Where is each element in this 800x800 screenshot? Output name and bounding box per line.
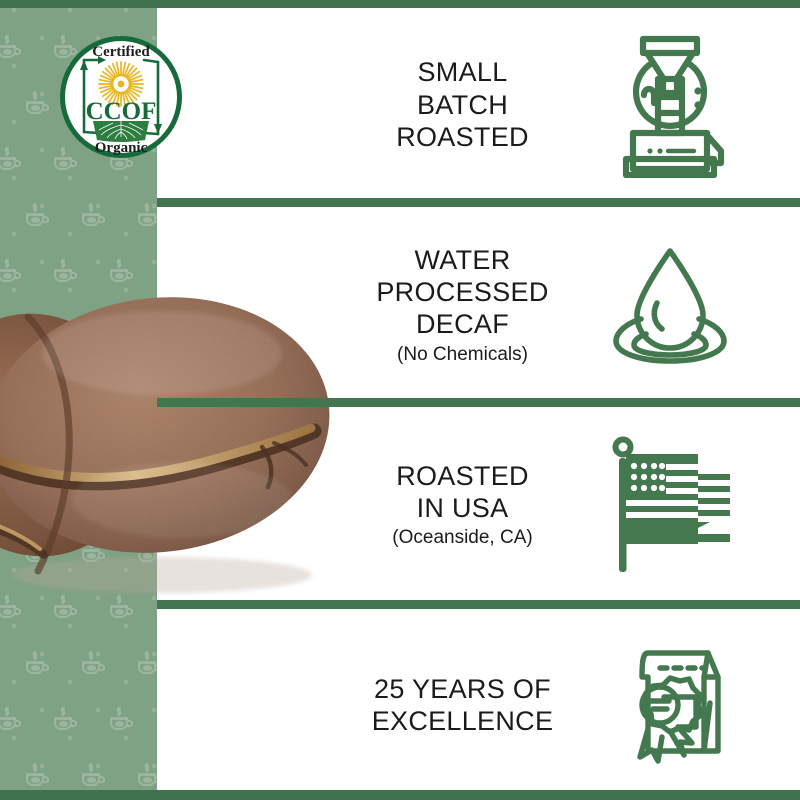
bottom-edge-strip: [0, 790, 800, 800]
feature-line: BATCH: [330, 89, 595, 121]
feature-row-small-batch-roasted: SMALL BATCH ROASTED: [330, 30, 800, 180]
feature-subtext: (Oceanside, CA): [330, 527, 595, 550]
feature-text-water-processed-decaf: WATER PROCESSED DECAF (No Chemicals): [330, 244, 595, 367]
coffee-cup-pattern-tile: [82, 540, 108, 566]
coffee-cup-pattern-tile: [138, 540, 157, 566]
coffee-cup-pattern-tile: [110, 596, 136, 622]
coffee-cup-pattern-tile: [82, 204, 108, 230]
coffee-cup-pattern-tile: [82, 764, 108, 790]
coffee-cup-pattern-tile: [110, 708, 136, 734]
coffee-cup-pattern-tile: [26, 428, 52, 454]
divider-3: [157, 600, 800, 609]
feature-row-water-processed-decaf: WATER PROCESSED DECAF (No Chemicals): [330, 225, 800, 385]
coffee-cup-pattern-tile: [54, 372, 80, 398]
coffee-cup-pattern-tile: [110, 372, 136, 398]
feature-row-25-years-of-excellence: 25 YEARS OF EXCELLENCE: [330, 630, 800, 780]
divider-2: [157, 398, 800, 407]
feature-line: WATER: [330, 244, 595, 276]
coffee-cup-pattern-tile: [26, 764, 52, 790]
feature-line: ROASTED: [330, 460, 595, 492]
coffee-cup-pattern-tile: [26, 204, 52, 230]
coffee-cup-pattern-tile: [26, 92, 52, 118]
coffee-cup-pattern-tile: [26, 540, 52, 566]
coffee-cup-pattern-tile: [110, 484, 136, 510]
coffee-cup-pattern-tile: [138, 652, 157, 678]
feature-subtext: (No Chemicals): [330, 344, 595, 367]
coffee-cup-pattern-tile: [0, 148, 24, 174]
coffee-cup-pattern-tile: [138, 428, 157, 454]
feature-line: EXCELLENCE: [330, 705, 595, 737]
coffee-cup-pattern-tile: [54, 596, 80, 622]
feature-line: IN USA: [330, 492, 595, 524]
coffee-cup-pattern-tile: [26, 316, 52, 342]
coffee-cup-pattern-tile: [0, 484, 24, 510]
seal-bottom-label: Organic: [95, 140, 148, 156]
coffee-cup-pattern-tile: [82, 428, 108, 454]
divider-1: [157, 198, 800, 207]
feature-text-small-batch-roasted: SMALL BATCH ROASTED: [330, 56, 595, 153]
coffee-cup-pattern-tile: [0, 372, 24, 398]
usa-flag-icon: [595, 436, 745, 574]
coffee-cup-pattern-tile: [82, 316, 108, 342]
feature-line: 25 YEARS OF: [330, 673, 595, 705]
feature-text-25-years-of-excellence: 25 YEARS OF EXCELLENCE: [330, 673, 595, 738]
seal-top-label: Certified: [92, 44, 150, 60]
feature-row-roasted-in-usa: ROASTED IN USA (Oceanside, CA): [330, 425, 800, 585]
feature-line: ROASTED: [330, 121, 595, 153]
coffee-cup-pattern-tile: [82, 652, 108, 678]
feature-text-roasted-in-usa: ROASTED IN USA (Oceanside, CA): [330, 460, 595, 551]
coffee-cup-pattern-tile: [0, 596, 24, 622]
water-droplet-icon: [595, 241, 745, 369]
coffee-cup-pattern-tile: [54, 708, 80, 734]
coffee-cup-pattern-tile: [0, 36, 24, 62]
feature-line: PROCESSED: [330, 276, 595, 308]
feature-line: DECAF: [330, 308, 595, 340]
award-coffee-bag-icon: [595, 641, 745, 769]
coffee-cup-pattern-tile: [138, 204, 157, 230]
top-edge-strip: [0, 0, 800, 8]
coffee-features-infographic: Certified CCOF Organic SMALL BATCH ROAST…: [0, 0, 800, 800]
coffee-roaster-icon: [595, 33, 745, 178]
seal-acronym: CCOF: [86, 98, 157, 125]
coffee-cup-pattern-tile: [110, 260, 136, 286]
coffee-cup-pattern-tile: [54, 484, 80, 510]
coffee-cup-pattern-tile: [54, 260, 80, 286]
feature-line: SMALL: [330, 56, 595, 88]
ccof-organic-seal: Certified CCOF Organic: [58, 32, 184, 162]
coffee-cup-pattern-tile: [138, 764, 157, 790]
coffee-cup-pattern-tile: [138, 316, 157, 342]
coffee-cup-pattern-tile: [0, 708, 24, 734]
coffee-cup-pattern-tile: [0, 260, 24, 286]
coffee-cup-pattern-tile: [26, 652, 52, 678]
